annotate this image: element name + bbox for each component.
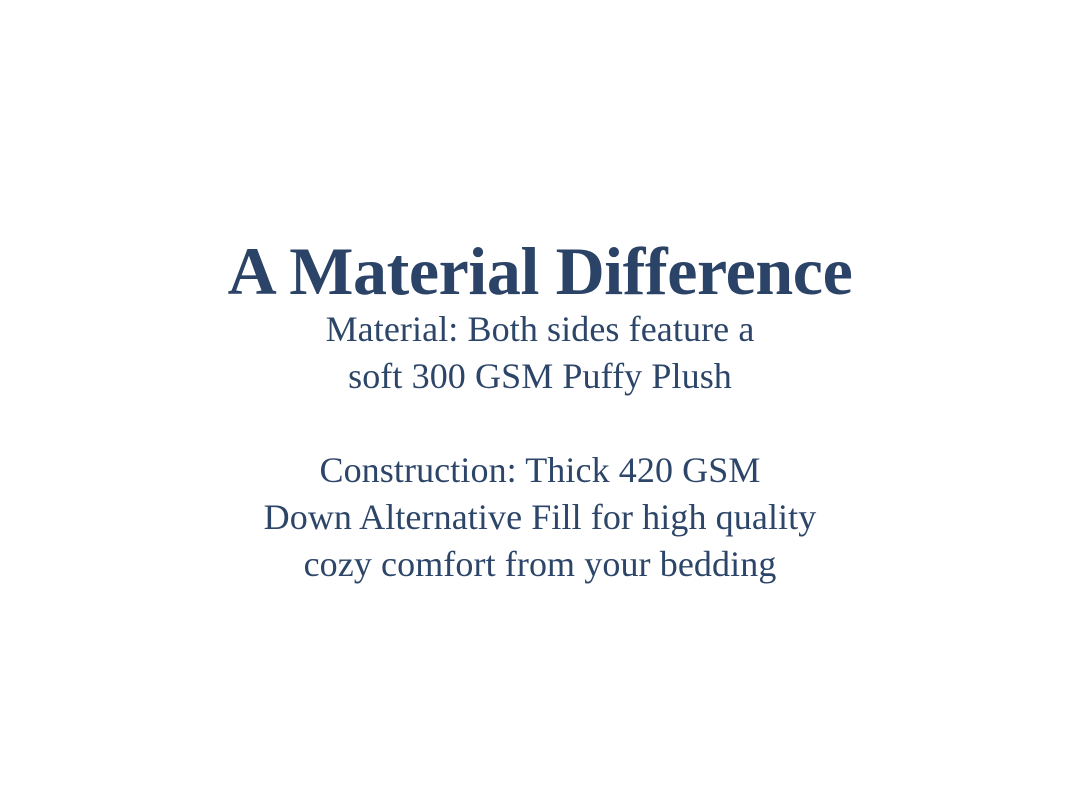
paragraph-material-line-2: soft 300 GSM Puffy Plush xyxy=(0,353,1080,400)
paragraph-spacer xyxy=(0,400,1080,447)
paragraph-construction: Construction: Thick 420 GSM Down Alterna… xyxy=(0,447,1080,588)
paragraph-construction-line-2: Down Alternative Fill for high quality xyxy=(0,494,1080,541)
slide-body: Material: Both sides feature a soft 300 … xyxy=(0,306,1080,588)
paragraph-construction-line-1: Construction: Thick 420 GSM xyxy=(0,447,1080,494)
paragraph-material: Material: Both sides feature a soft 300 … xyxy=(0,306,1080,400)
page-title: A Material Difference xyxy=(0,232,1080,310)
paragraph-construction-line-3: cozy comfort from your bedding xyxy=(0,541,1080,588)
slide-canvas: A Material Difference Material: Both sid… xyxy=(0,0,1080,800)
paragraph-material-line-1: Material: Both sides feature a xyxy=(0,306,1080,353)
